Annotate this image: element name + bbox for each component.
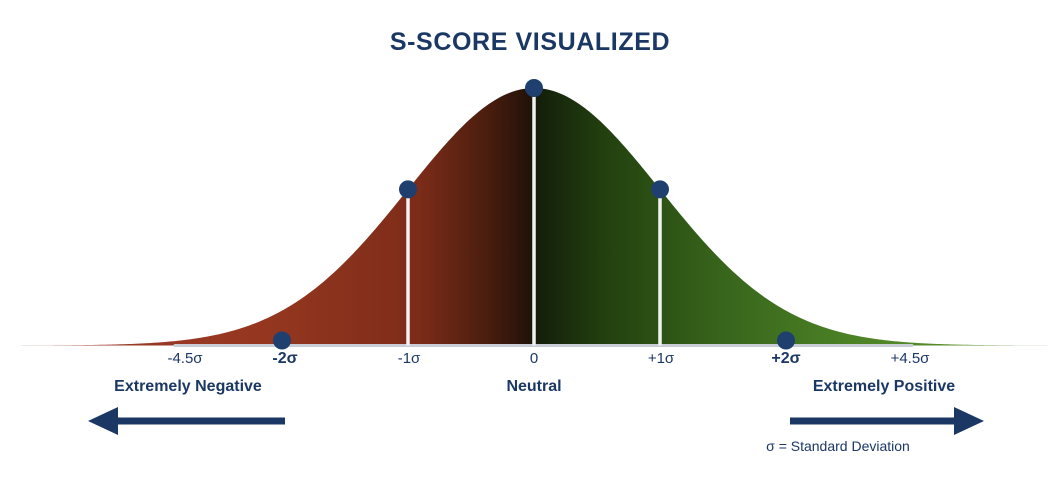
sigma-marker-dot[interactable] [525, 79, 543, 97]
bell-curve-svg [0, 0, 1060, 484]
axis-tick-3: 0 [530, 350, 538, 367]
label-extremely-positive: Extremely Positive [813, 378, 955, 396]
chart-canvas: S-SCORE VISUALIZED [0, 0, 1060, 484]
axis-tick-1: -2σ [272, 350, 297, 368]
axis-tick-2: -1σ [398, 350, 421, 367]
sigma-marker-dot[interactable] [651, 180, 669, 198]
label-extremely-negative: Extremely Negative [114, 378, 262, 396]
footnote-sigma-definition: σ = Standard Deviation [766, 438, 910, 454]
axis-tick-5: +2σ [771, 350, 800, 368]
axis-tick-0: -4.5σ [167, 350, 202, 367]
axis-tick-4: +1σ [648, 350, 674, 367]
sigma-marker-dot[interactable] [399, 180, 417, 198]
bell-curve-figure [0, 0, 1060, 484]
bell-curve-area [0, 88, 1060, 346]
sigma-marker-dot[interactable] [273, 332, 291, 350]
axis-tick-6: +4.5σ [891, 350, 930, 367]
label-neutral: Neutral [506, 378, 561, 396]
sigma-marker-dot[interactable] [777, 332, 795, 350]
